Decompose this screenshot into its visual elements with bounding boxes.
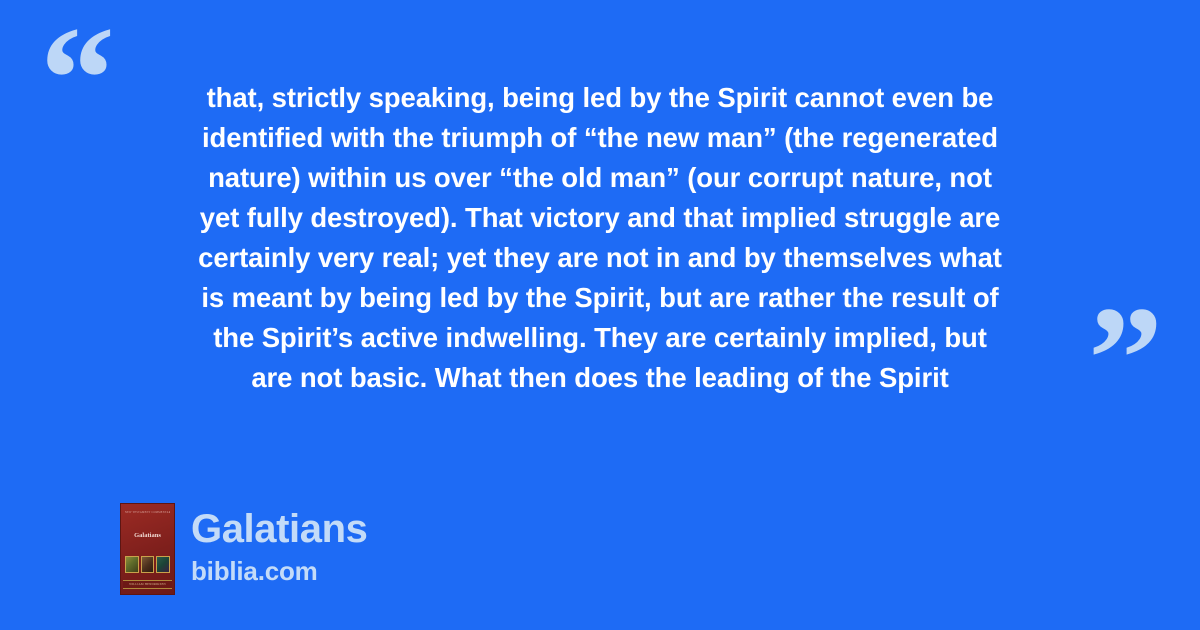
attribution-text: Galatians biblia.com (191, 503, 367, 586)
book-cover-title: Galatians (121, 532, 174, 539)
quote-line: that, strictly speaking, being led by th… (120, 78, 1080, 118)
book-cover-author-band: WILLIAM HENDRIKSEN (123, 580, 172, 589)
book-cover-panel-3 (156, 556, 170, 573)
quote-line: identified with the triumph of “the new … (120, 118, 1080, 158)
quote-card: “ that, strictly speaking, being led by … (0, 0, 1200, 630)
source-site: biblia.com (191, 556, 367, 586)
open-quote-icon: “ (40, 4, 115, 154)
attribution: NEW TESTAMENT COMMENTARY Galatians WILLI… (120, 503, 367, 595)
quote-line: are not basic. What then does the leadin… (120, 358, 1080, 398)
quote-line: is meant by being led by the Spirit, but… (120, 278, 1080, 318)
book-cover-panels (125, 556, 170, 573)
quote-line: yet fully destroyed). That victory and t… (120, 198, 1080, 238)
quote-text: that, strictly speaking, being led by th… (120, 78, 1080, 398)
book-cover-author: WILLIAM HENDRIKSEN (123, 582, 172, 586)
close-quote-icon: ” (1088, 284, 1163, 434)
book-cover-panel-2 (141, 556, 155, 573)
quote-line: nature) within us over “the old man” (ou… (120, 158, 1080, 198)
source-title: Galatians (191, 507, 367, 551)
book-cover-thumbnail: NEW TESTAMENT COMMENTARY Galatians WILLI… (120, 503, 175, 595)
book-cover-series: NEW TESTAMENT COMMENTARY (125, 511, 170, 514)
quote-line: certainly very real; yet they are not in… (120, 238, 1080, 278)
book-cover-panel-1 (125, 556, 139, 573)
quote-line: the Spirit’s active indwelling. They are… (120, 318, 1080, 358)
